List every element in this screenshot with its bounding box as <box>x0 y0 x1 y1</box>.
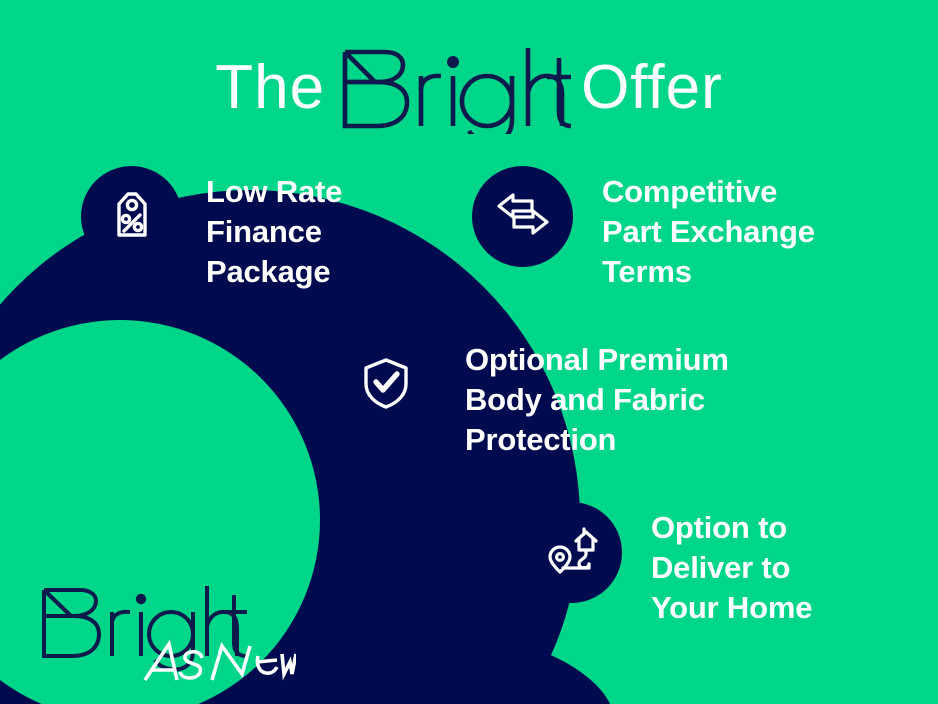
feature-item-part-exchange: Competitive Part Exchange Terms <box>472 166 815 292</box>
navy-wedge-shape <box>513 642 610 704</box>
feature-label: Optional Premium Body and Fabric Protect… <box>465 334 729 460</box>
page-title: The <box>0 44 938 132</box>
shield-check-icon <box>358 354 414 415</box>
title-prefix: The <box>215 57 325 119</box>
bright-wordmark-header <box>335 46 571 134</box>
route-house-pin-icon <box>543 521 601 584</box>
brand-logo-primary-mark <box>44 586 247 669</box>
title-suffix: Offer <box>581 57 723 119</box>
exchange-arrows-icon <box>494 185 552 248</box>
brand-logo-secondary-mark <box>145 644 296 680</box>
feature-icon-badge <box>472 166 573 267</box>
brand-logo-bright-as-new <box>38 584 296 684</box>
feature-label: Competitive Part Exchange Terms <box>602 166 815 292</box>
feature-icon-badge <box>335 334 436 435</box>
poster-canvas: The <box>0 0 938 704</box>
feature-icon-badge <box>81 166 182 267</box>
feature-label: Option to Deliver to Your Home <box>651 502 812 628</box>
feature-item-low-rate-finance: Low Rate Finance Package <box>81 166 342 292</box>
feature-item-body-fabric-protection: Optional Premium Body and Fabric Protect… <box>335 334 729 460</box>
feature-label: Low Rate Finance Package <box>206 166 342 292</box>
price-tag-percent-icon <box>104 186 160 247</box>
feature-item-home-delivery: Option to Deliver to Your Home <box>521 502 812 628</box>
feature-icon-badge <box>521 502 622 603</box>
